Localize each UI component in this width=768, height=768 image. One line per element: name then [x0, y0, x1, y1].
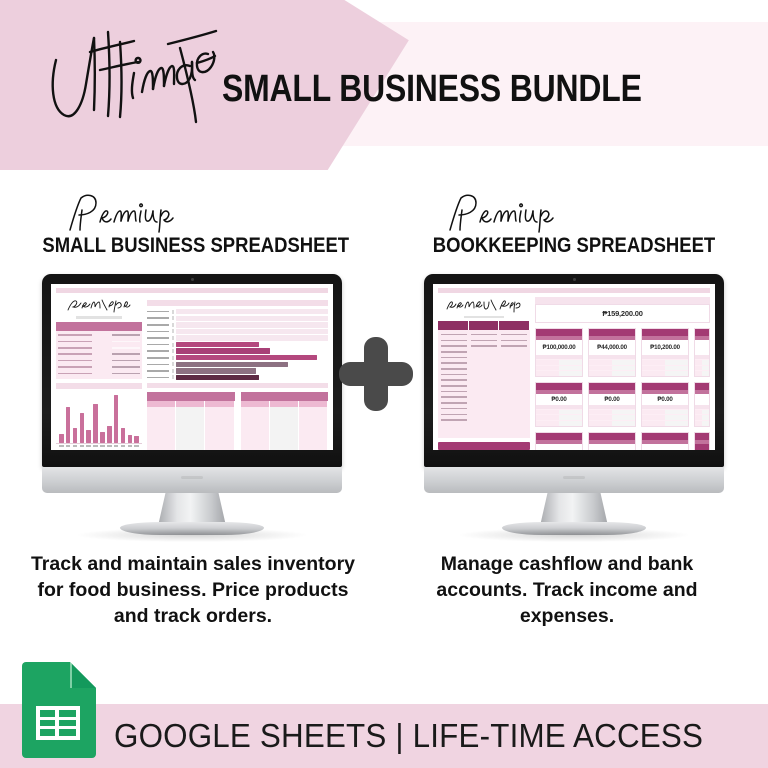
account-row [439, 412, 529, 417]
orders-per-year-chart [147, 309, 328, 380]
card-detail-row [642, 420, 688, 426]
card-value: ₱0.00 [536, 394, 582, 405]
account-card: ₱0.00 [535, 382, 583, 427]
header: SMALL BUSINESS BUNDLE [0, 0, 768, 170]
webcam-icon [573, 278, 576, 281]
screen-right: ₱159,200.00 ₱100,000.00 [433, 284, 715, 450]
monitor-body: ₱159,200.00 ₱100,000.00 [424, 274, 724, 467]
product-description-right: Manage cashflow and bank accounts. Track… [402, 552, 732, 630]
card-detail-row [589, 370, 635, 376]
promo-graphic: SMALL BUSINESS BUNDLE [0, 0, 768, 768]
account-row [439, 395, 529, 400]
card-heading [642, 329, 688, 336]
account-card: ₱10,200.00 [641, 328, 689, 377]
info-row [58, 352, 140, 357]
card-heading [589, 433, 635, 440]
account-card: ₱100,000.00 [535, 328, 583, 377]
card-detail-row [589, 420, 635, 426]
card-value: ₱100,000.00 [536, 340, 582, 355]
card-value [536, 444, 582, 450]
chart-row [147, 375, 328, 380]
card-value: ₱0.00 [589, 394, 635, 405]
card-detail-row [536, 359, 582, 365]
card-value [695, 340, 709, 355]
account-card: ₱0.00 [641, 382, 689, 427]
chart-row [147, 348, 328, 353]
monitor-right: ₱159,200.00 ₱100,000.00 [424, 274, 724, 529]
footer-text: GOOGLE SHEETS | LIFE-TIME ACCESS [114, 704, 703, 768]
monitor-chin [424, 467, 724, 493]
account-card [694, 382, 710, 427]
card-heading [536, 383, 582, 390]
account-cards-row-1: ₱100,000.00 ₱44, [535, 328, 710, 377]
plus-icon [339, 337, 413, 411]
google-sheets-icon [16, 662, 100, 762]
account-row [439, 338, 529, 343]
accounts-table-header [438, 321, 530, 330]
products-rows [241, 407, 329, 450]
card-detail-row [642, 365, 688, 371]
quick-overview-heading [56, 322, 142, 331]
account-row [439, 349, 529, 354]
chart-axis-labels [56, 445, 142, 447]
total-balance-label [535, 297, 710, 304]
card-value [589, 444, 635, 450]
monitor-left [42, 274, 342, 529]
materials-table [147, 392, 235, 450]
monitor-shadow [460, 528, 688, 542]
card-detail-row [642, 370, 688, 376]
account-card [588, 432, 636, 450]
materials-heading [147, 392, 235, 401]
card-detail-row [536, 409, 582, 415]
info-row [58, 358, 140, 363]
orders-total-band [147, 383, 328, 388]
info-row [58, 345, 140, 350]
card-detail-row [695, 359, 709, 365]
info-row [58, 365, 140, 370]
balance-panel: ₱159,200.00 ₱100,000.00 [535, 297, 710, 447]
account-cards-row-2: ₱0.00 ₱0.00 [535, 382, 710, 427]
card-detail-row [536, 414, 582, 420]
card-detail-row [642, 414, 688, 420]
total-balance-value: ₱159,200.00 [602, 309, 642, 318]
card-detail-row [695, 420, 709, 426]
accounts-table-body [438, 330, 530, 438]
card-value [642, 444, 688, 450]
card-detail-row [589, 409, 635, 415]
chart-row [147, 342, 328, 347]
card-detail-row [695, 409, 709, 415]
chart-row [147, 335, 328, 340]
monitor-shadow [78, 528, 306, 542]
chart-row [147, 316, 328, 321]
monitor-chin [42, 467, 342, 493]
card-value [695, 444, 709, 450]
card-heading [536, 433, 582, 440]
orders-chart-title-band [147, 300, 328, 306]
small-business-dashboard [51, 284, 333, 450]
sales-band-label [56, 383, 142, 389]
info-row [58, 339, 140, 344]
account-row [439, 389, 529, 394]
chart-row [147, 322, 328, 327]
sheet-topbar [56, 288, 328, 293]
card-heading [589, 329, 635, 336]
card-detail-row [695, 365, 709, 371]
materials-rows [147, 407, 235, 450]
products-table [241, 392, 329, 450]
premium-script-left [22, 190, 362, 234]
card-heading [695, 433, 709, 440]
product-description-left: Track and maintain sales inventory for f… [28, 552, 358, 630]
product-title-right: BOOKKEEPING SPREADSHEET [424, 234, 723, 258]
account-row [439, 344, 529, 349]
accounts-panel [438, 297, 530, 447]
dashboard-left-panel [56, 297, 142, 447]
card-detail-row [589, 365, 635, 371]
product-column-left: SMALL BUSINESS SPREADSHEET [22, 190, 362, 529]
accounts-dashboard-title-script [444, 297, 524, 313]
chart-row [147, 362, 328, 367]
card-heading [536, 329, 582, 336]
premium-script-right [404, 190, 744, 234]
account-card: ₱44,000.00 [588, 328, 636, 377]
screen-left [51, 284, 333, 450]
account-row [439, 355, 529, 360]
account-row [439, 361, 529, 366]
monitor-body [42, 274, 342, 467]
card-detail-row [695, 414, 709, 420]
info-row [58, 371, 140, 376]
product-column-right: BOOKKEEPING SPREADSHEET [404, 190, 744, 529]
quick-overview-table [56, 331, 142, 380]
card-detail-row [589, 414, 635, 420]
account-card [694, 432, 710, 450]
header-title: SMALL BUSINESS BUNDLE [222, 68, 642, 111]
card-value [695, 394, 709, 405]
chart-row [147, 329, 328, 334]
total-balance-box: ₱159,200.00 [535, 304, 710, 323]
account-row [439, 401, 529, 406]
card-heading [695, 329, 709, 336]
dashboard-title-script [64, 297, 134, 313]
account-row [439, 418, 529, 423]
card-detail-row [695, 370, 709, 376]
monthly-sales-bar-chart [56, 393, 142, 444]
chart-row [147, 368, 328, 373]
accounts-action-button[interactable] [438, 442, 530, 450]
card-detail-row [642, 409, 688, 415]
account-row [439, 384, 529, 389]
sheet-topbar [438, 288, 710, 293]
dashboard-right-panel [147, 297, 328, 447]
account-card [641, 432, 689, 450]
card-detail-row [589, 359, 635, 365]
card-heading [642, 383, 688, 390]
account-row [439, 378, 529, 383]
chart-row [147, 309, 328, 314]
chart-row [147, 355, 328, 360]
card-detail-row [536, 365, 582, 371]
card-detail-row [536, 370, 582, 376]
card-detail-row [536, 420, 582, 426]
product-title-left: SMALL BUSINESS SPREADSHEET [42, 234, 341, 258]
card-value: ₱0.00 [642, 394, 688, 405]
info-row [58, 333, 140, 338]
card-heading [642, 433, 688, 440]
card-value: ₱44,000.00 [589, 340, 635, 355]
card-detail-row [642, 359, 688, 365]
account-card [535, 432, 583, 450]
card-value: ₱10,200.00 [642, 340, 688, 355]
bookkeeping-dashboard: ₱159,200.00 ₱100,000.00 [433, 284, 715, 450]
card-heading [589, 383, 635, 390]
webcam-icon [191, 278, 194, 281]
card-heading [695, 383, 709, 390]
account-row [439, 372, 529, 377]
account-cards-row-3 [535, 432, 710, 450]
account-row [439, 367, 529, 372]
account-card: ₱0.00 [588, 382, 636, 427]
account-card [694, 328, 710, 377]
products-heading [241, 392, 329, 401]
account-row [439, 406, 529, 411]
account-row [439, 332, 529, 337]
